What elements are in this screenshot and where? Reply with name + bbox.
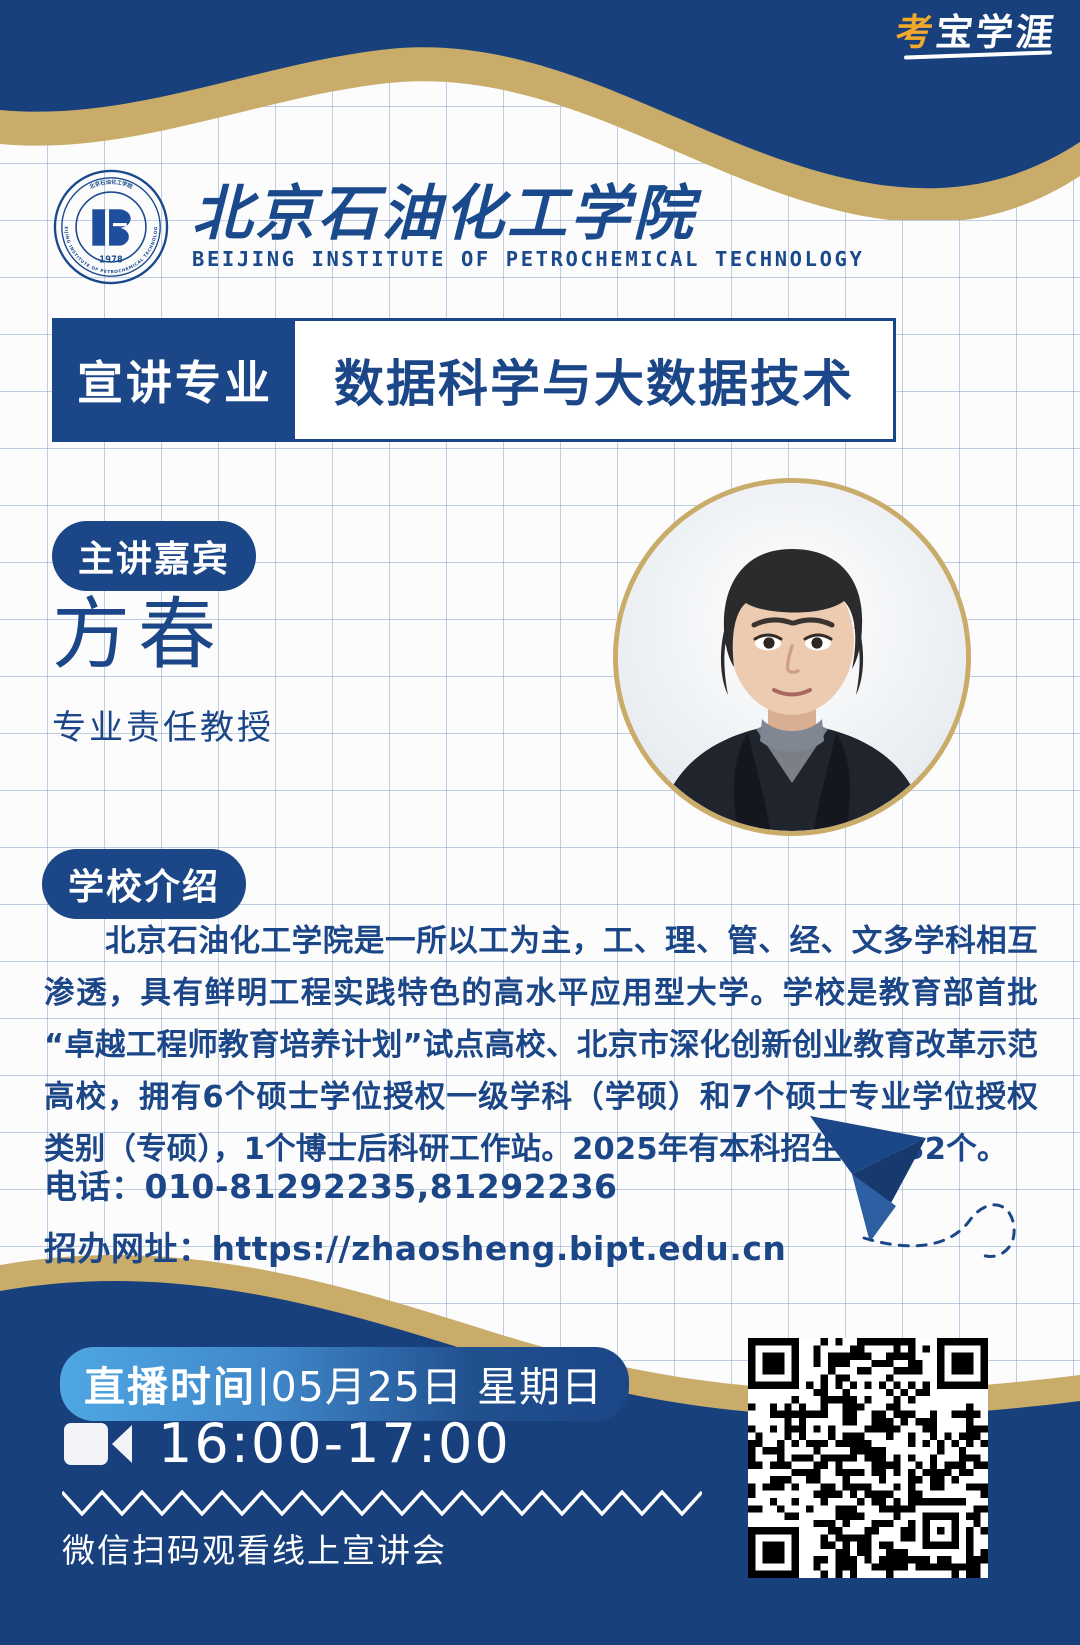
guest-badge: 主讲嘉宾: [52, 521, 256, 591]
brand-char-3: 学: [974, 14, 1016, 51]
poster-root: 考 宝 学 涯 1978 北京石油化工学院 BEIJING I: [0, 0, 1080, 1645]
contact-phone-label: 电话：: [44, 1167, 145, 1206]
live-date-value: 05月25日 星期日: [271, 1353, 603, 1413]
footer-note: 微信扫码观看线上宣讲会: [62, 1524, 447, 1572]
university-identity: 1978 北京石油化工学院 BEIJING INSTITUTE OF PETRO…: [52, 168, 864, 286]
brand-char-1: 考: [894, 14, 936, 51]
speaker-title: 专业责任教授: [52, 700, 274, 749]
major-tag-label: 宣讲专业: [55, 321, 295, 439]
live-time-label: 直播时间: [84, 1353, 256, 1413]
speaker-portrait: [613, 478, 971, 836]
major-banner: 宣讲专业 数据科学与大数据技术: [52, 318, 896, 442]
contact-website[interactable]: 招办网址：https://zhaosheng.bipt.edu.cn: [44, 1222, 786, 1270]
contact-phone-value: 010-81292235,81292236: [145, 1167, 618, 1206]
university-seal-icon: 1978 北京石油化工学院 BEIJING INSTITUTE OF PETRO…: [52, 168, 170, 286]
brand-wordmark: 考 宝 学 涯: [896, 14, 1054, 51]
seal-year: 1978: [99, 254, 123, 265]
university-name-cn: 北京石油化工学院: [192, 183, 864, 246]
qr-code-image[interactable]: [748, 1338, 988, 1578]
live-time-row: 16:00-17:00: [64, 1412, 511, 1475]
brand-char-2: 宝: [934, 14, 976, 51]
video-camera-icon: [64, 1419, 136, 1469]
brand-char-4: 涯: [1014, 14, 1056, 51]
contact-website-label: 招办网址：: [44, 1229, 212, 1268]
live-time-value: 16:00-17:00: [158, 1412, 511, 1475]
university-name-en: BEIJING INSTITUTE OF PETROCHEMICAL TECHN…: [192, 248, 864, 271]
paper-plane-icon: [800, 1110, 1030, 1300]
portrait-illustration: [618, 483, 966, 831]
zigzag-divider: [62, 1490, 702, 1516]
svg-text:北京石油化工学院: 北京石油化工学院: [88, 178, 135, 191]
live-time-badge: 直播时间 | 05月25日 星期日: [60, 1347, 629, 1421]
contact-website-value[interactable]: https://zhaosheng.bipt.edu.cn: [212, 1229, 787, 1268]
live-time-separator: |: [258, 1360, 269, 1407]
contact-phone: 电话：010-81292235,81292236: [44, 1160, 618, 1208]
school-intro-badge: 学校介绍: [42, 849, 246, 919]
speaker-name: 方春: [52, 596, 224, 674]
wechat-qr-code[interactable]: [748, 1338, 988, 1578]
major-name-label: 数据科学与大数据技术: [295, 321, 893, 439]
